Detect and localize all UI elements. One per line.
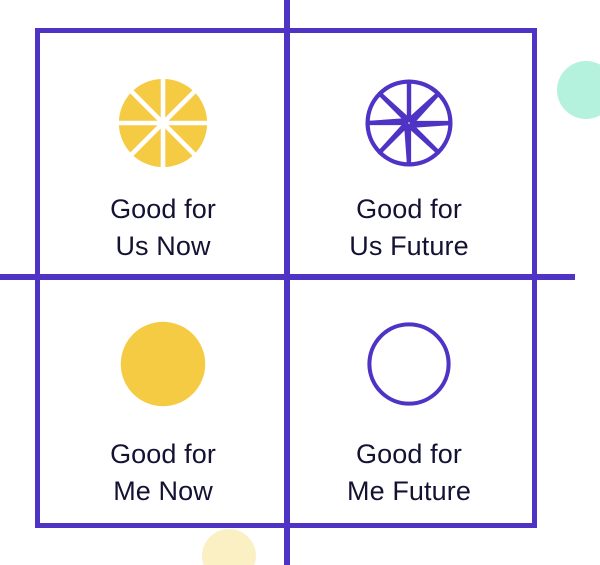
- quadrant-label-good-for-me-future: Good for Me Future: [347, 436, 471, 509]
- quadrant-label-good-for-us-now: Good for Us Now: [110, 191, 216, 264]
- pinwheel-filled-icon: [117, 77, 209, 169]
- circle-filled-icon: [119, 320, 207, 408]
- pinwheel-outline-icon: [363, 77, 455, 169]
- mint-circle-decoration: [557, 61, 600, 119]
- quadrant-good-for-me-future[interactable]: Good for Me Future: [286, 278, 532, 523]
- quadrant-grid: Good for Us Now Good: [35, 28, 537, 528]
- quadrant-label-good-for-us-future: Good for Us Future: [349, 191, 468, 264]
- four-quadrant-diagram: Good for Us Now Good: [0, 0, 600, 565]
- quadrant-good-for-us-future[interactable]: Good for Us Future: [286, 33, 532, 278]
- quadrant-label-good-for-me-now: Good for Me Now: [110, 436, 216, 509]
- cream-circle-decoration: [202, 529, 256, 565]
- quadrant-good-for-us-now[interactable]: Good for Us Now: [40, 33, 286, 278]
- circle-outline-icon: [365, 320, 453, 408]
- quadrant-good-for-me-now[interactable]: Good for Me Now: [40, 278, 286, 523]
